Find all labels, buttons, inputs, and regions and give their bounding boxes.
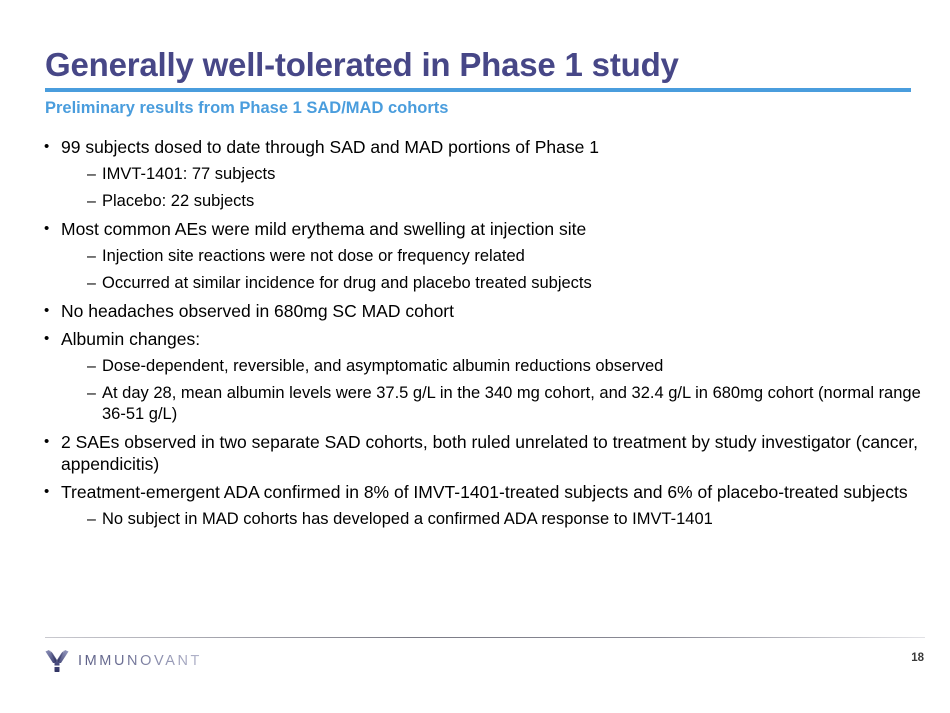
presentation-slide: Generally well-tolerated in Phase 1 stud… bbox=[0, 0, 950, 713]
bullet-marker-dot: • bbox=[44, 481, 61, 503]
bullet-marker-dot: • bbox=[44, 136, 61, 158]
bullet-item: –Placebo: 22 subjects bbox=[44, 191, 924, 213]
bullet-marker-dash: – bbox=[87, 356, 102, 378]
bullet-text: At day 28, mean albumin levels were 37.5… bbox=[102, 383, 924, 425]
bullet-text: Occurred at similar incidence for drug a… bbox=[102, 273, 924, 294]
bullet-marker-dot: • bbox=[44, 218, 61, 240]
bullet-text: Treatment-emergent ADA confirmed in 8% o… bbox=[61, 481, 924, 503]
page-title: Generally well-tolerated in Phase 1 stud… bbox=[45, 46, 905, 84]
bullet-item: •Most common AEs were mild erythema and … bbox=[44, 218, 924, 240]
bullet-item: –At day 28, mean albumin levels were 37.… bbox=[44, 383, 924, 425]
bullet-text: Placebo: 22 subjects bbox=[102, 191, 924, 212]
bullet-marker-dot: • bbox=[44, 300, 61, 322]
slide-subtitle: Preliminary results from Phase 1 SAD/MAD… bbox=[45, 99, 448, 118]
bullet-text: Albumin changes: bbox=[61, 328, 924, 350]
bullet-item: –Injection site reactions were not dose … bbox=[44, 246, 924, 268]
bullet-item: •Treatment-emergent ADA confirmed in 8% … bbox=[44, 481, 924, 503]
footer-divider-rule bbox=[45, 637, 925, 638]
bullet-item: •99 subjects dosed to date through SAD a… bbox=[44, 136, 924, 158]
bullet-text: No subject in MAD cohorts has developed … bbox=[102, 509, 924, 530]
bullet-item: –Occurred at similar incidence for drug … bbox=[44, 273, 924, 295]
bullet-list: •99 subjects dosed to date through SAD a… bbox=[44, 136, 924, 536]
bullet-text: 99 subjects dosed to date through SAD an… bbox=[61, 136, 924, 158]
company-wordmark: IMMUNOVANT bbox=[78, 653, 202, 669]
bullet-text: Most common AEs were mild erythema and s… bbox=[61, 218, 924, 240]
bullet-text: Injection site reactions were not dose o… bbox=[102, 246, 924, 267]
bullet-item: •No headaches observed in 680mg SC MAD c… bbox=[44, 300, 924, 322]
bullet-marker-dash: – bbox=[87, 246, 102, 268]
bullet-marker-dash: – bbox=[87, 383, 102, 405]
company-logo: IMMUNOVANT bbox=[44, 648, 202, 674]
bullet-marker-dash: – bbox=[87, 509, 102, 531]
bullet-text: No headaches observed in 680mg SC MAD co… bbox=[61, 300, 924, 322]
bullet-item: –No subject in MAD cohorts has developed… bbox=[44, 509, 924, 531]
page-number: 18 bbox=[911, 652, 924, 664]
bullet-marker-dot: • bbox=[44, 328, 61, 350]
bullet-text: 2 SAEs observed in two separate SAD coho… bbox=[61, 431, 924, 476]
bullet-marker-dot: • bbox=[44, 431, 61, 453]
bullet-item: –Dose-dependent, reversible, and asympto… bbox=[44, 356, 924, 378]
bullet-text: Dose-dependent, reversible, and asymptom… bbox=[102, 356, 924, 377]
bullet-item: –IMVT-1401: 77 subjects bbox=[44, 164, 924, 186]
antibody-y-icon bbox=[44, 649, 70, 673]
bullet-marker-dash: – bbox=[87, 164, 102, 186]
bullet-marker-dash: – bbox=[87, 191, 102, 213]
bullet-item: •Albumin changes: bbox=[44, 328, 924, 350]
bullet-text: IMVT-1401: 77 subjects bbox=[102, 164, 924, 185]
title-divider-rule bbox=[45, 88, 911, 92]
bullet-marker-dash: – bbox=[87, 273, 102, 295]
bullet-item: •2 SAEs observed in two separate SAD coh… bbox=[44, 431, 924, 476]
